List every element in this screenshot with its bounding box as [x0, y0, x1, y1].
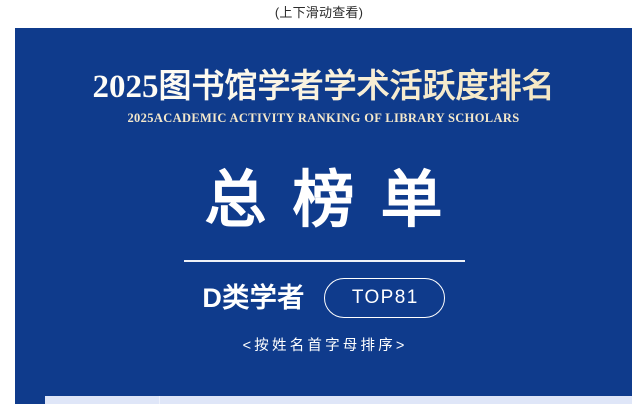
- ranking-table-header: [45, 396, 632, 404]
- top-count-badge: TOP81: [324, 278, 445, 318]
- sort-order-note: <按姓名首字母排序>: [15, 334, 632, 355]
- divider: [184, 260, 465, 262]
- page-subtitle-english: 2025ACADEMIC ACTIVITY RANKING OF LIBRARY…: [15, 111, 632, 126]
- scroll-hint: (上下滑动查看): [0, 3, 638, 23]
- ranking-poster: 2025图书馆学者学术活跃度排名 2025ACADEMIC ACTIVITY R…: [15, 28, 632, 404]
- poster-title-block: 2025图书馆学者学术活跃度排名 2025ACADEMIC ACTIVITY R…: [15, 68, 632, 126]
- page-title: 2025图书馆学者学术活跃度排名: [15, 68, 632, 106]
- table-column-rank: [45, 396, 160, 404]
- scholar-category-label: D类学者: [202, 281, 305, 315]
- category-row: D类学者 TOP81: [15, 278, 632, 318]
- headline-total-ranking: 总榜单: [15, 166, 632, 236]
- table-column-name: [160, 396, 632, 404]
